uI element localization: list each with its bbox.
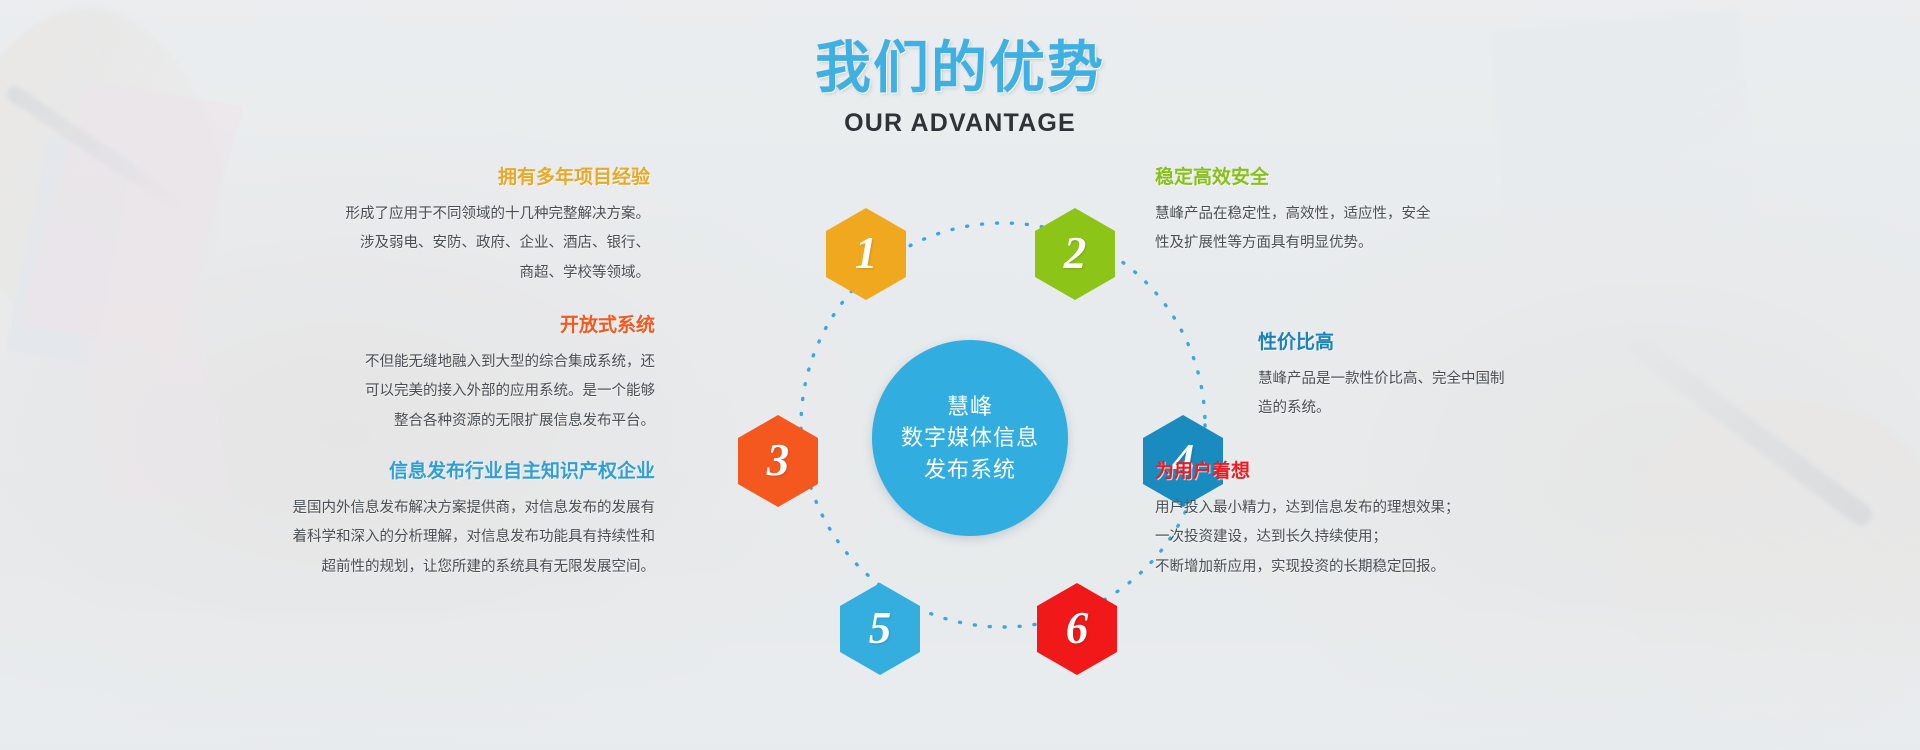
hexagon-number-3: 3 (767, 438, 790, 483)
advantage-diagram: 慧峰 数字媒体信息 发布系统 1 2 3 4 5 6 拥有多年项目经验 形成了应… (0, 0, 1920, 750)
advantage-heading-2: 稳定高效安全 (1155, 168, 1575, 187)
advantage-body-4: 慧峰产品是一款性价比高、完全中国制造的系统。 (1258, 365, 1658, 424)
advantage-heading-5: 信息发布行业自主知识产权企业 (250, 462, 655, 481)
hexagon-number-6: 6 (1066, 606, 1089, 651)
advantage-body-3: 不但能无缝地融入到大型的综合集成系统，还可以完美的接入外部的应用系统。是一个能够… (240, 348, 655, 436)
advantage-block-2: 稳定高效安全 慧峰产品在稳定性，高效性，适应性，安全性及扩展性等方面具有明显优势… (1155, 168, 1575, 259)
advantage-body-1: 形成了应用于不同领域的十几种完整解决方案。涉及弱电、安防、政府、企业、酒店、银行… (240, 200, 650, 288)
advantage-body-5: 是国内外信息发布解决方案提供商，对信息发布的发展有着科学和深入的分析理解，对信息… (250, 494, 655, 582)
advantage-body-6: 用户投入最小精力，达到信息发布的理想效果；一次投资建设，达到长久持续使用；不断增… (1155, 494, 1575, 582)
hexagon-number-5: 5 (869, 606, 892, 651)
advantage-block-5: 信息发布行业自主知识产权企业 是国内外信息发布解决方案提供商，对信息发布的发展有… (250, 462, 655, 582)
advantage-heading-6: 为用户着想 (1155, 462, 1575, 481)
advantage-block-4: 性价比高 慧峰产品是一款性价比高、完全中国制造的系统。 (1258, 333, 1658, 424)
advantage-heading-3: 开放式系统 (240, 316, 655, 335)
center-line-2: 数字媒体信息 (901, 422, 1039, 453)
hexagon-number-2: 2 (1064, 231, 1087, 276)
center-circle: 慧峰 数字媒体信息 发布系统 (872, 340, 1068, 536)
advantage-infographic: 我们的优势 OUR ADVANTAGE 慧峰 数字媒体信息 发布系统 1 2 3… (0, 0, 1920, 750)
advantage-body-2: 慧峰产品在稳定性，高效性，适应性，安全性及扩展性等方面具有明显优势。 (1155, 200, 1575, 259)
advantage-heading-1: 拥有多年项目经验 (240, 168, 650, 187)
advantage-block-3: 开放式系统 不但能无缝地融入到大型的综合集成系统，还可以完美的接入外部的应用系统… (240, 316, 655, 436)
center-line-1: 慧峰 (947, 391, 993, 422)
advantage-heading-4: 性价比高 (1258, 333, 1658, 352)
center-line-3: 发布系统 (924, 454, 1016, 485)
advantage-block-1: 拥有多年项目经验 形成了应用于不同领域的十几种完整解决方案。涉及弱电、安防、政府… (240, 168, 650, 288)
advantage-block-6: 为用户着想 用户投入最小精力，达到信息发布的理想效果；一次投资建设，达到长久持续… (1155, 462, 1575, 582)
hexagon-number-1: 1 (855, 231, 878, 276)
